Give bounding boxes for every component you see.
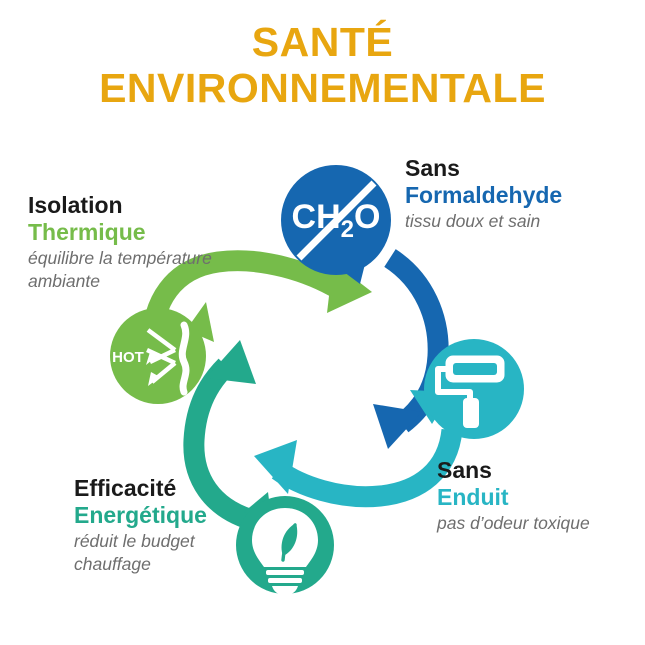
label-isolation-subheading: Thermique — [28, 219, 243, 246]
label-isolation-description: équilibre la température ambiante — [28, 247, 243, 292]
label-isolation-heading: Isolation — [28, 192, 243, 219]
infographic-canvas: SANTÉ ENVIRONNEMENTALE — [0, 0, 645, 645]
node-efficacite-energetique[interactable] — [236, 492, 334, 595]
ch2o-part2: O — [354, 198, 380, 236]
ch2o-subscript: 2 — [341, 216, 354, 243]
ch2o-part1: CH — [292, 198, 341, 236]
label-efficacite-subheading: Energétique — [74, 502, 207, 529]
hot-label-text: HOT — [112, 349, 144, 366]
label-enduit-description: pas d’odeur toxique — [437, 512, 590, 534]
label-formaldehyde-heading: Sans — [405, 155, 562, 182]
node-sans-enduit[interactable] — [410, 339, 524, 439]
label-isolation-thermique: Isolation Thermique équilibre la tempéra… — [28, 192, 243, 292]
label-efficacite-description-line2: chauffage — [74, 553, 207, 575]
label-efficacite-description-line1: réduit le budget — [74, 530, 207, 552]
label-formaldehyde-subheading: Formaldehyde — [405, 182, 562, 209]
label-efficacite-heading: Efficacité — [74, 475, 207, 502]
label-enduit-subheading: Enduit — [437, 484, 590, 511]
label-sans-enduit: Sans Enduit pas d’odeur toxique — [437, 457, 590, 535]
arrow-enduit-to-energie — [254, 430, 452, 497]
label-sans-formaldehyde: Sans Formaldehyde tissu doux et sain — [405, 155, 562, 233]
arrow-formaldehyde-to-enduit — [373, 258, 438, 449]
label-efficacite-energetique: Efficacité Energétique réduit le budget … — [74, 475, 207, 575]
label-formaldehyde-description: tissu doux et sain — [405, 210, 562, 232]
label-enduit-heading: Sans — [437, 457, 590, 484]
